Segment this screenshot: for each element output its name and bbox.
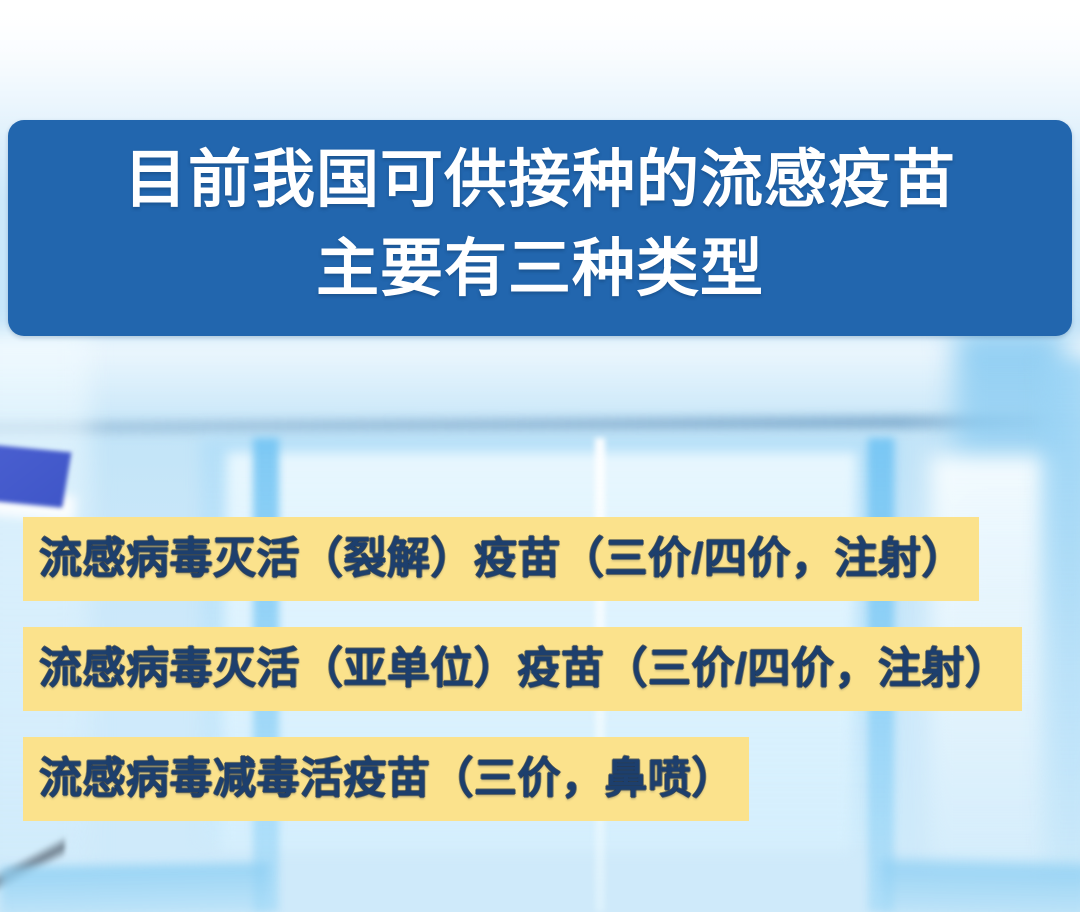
poster-canvas: 目前我国可供接种的流感疫苗 主要有三种类型 流感病毒灭活（裂解）疫苗（三价/四价… [0, 0, 1080, 912]
headline-line-2: 主要有三种类型 [316, 225, 764, 314]
vaccine-type-label-2: 流感病毒灭活（亚单位）疫苗（三价/四价，注射） [23, 627, 1022, 711]
background-ceiling [0, 336, 1080, 428]
vaccine-type-list: 流感病毒灭活（裂解）疫苗（三价/四价，注射） 流感病毒灭活（亚单位）疫苗（三价/… [0, 517, 1080, 847]
background-shelf-left [0, 863, 270, 912]
vaccine-type-label-1: 流感病毒灭活（裂解）疫苗（三价/四价，注射） [23, 517, 979, 601]
background-blue-sign [0, 444, 71, 508]
list-item: 流感病毒灭活（裂解）疫苗（三价/四价，注射） [0, 517, 1080, 601]
list-item: 流感病毒减毒活疫苗（三价，鼻喷） [0, 737, 1080, 821]
list-item: 流感病毒灭活（亚单位）疫苗（三价/四价，注射） [0, 627, 1080, 711]
background-shelf-right [879, 859, 1080, 912]
headline-line-1: 目前我国可供接种的流感疫苗 [124, 136, 956, 225]
vaccine-type-label-3: 流感病毒减毒活疫苗（三价，鼻喷） [23, 737, 749, 821]
headline-banner: 目前我国可供接种的流感疫苗 主要有三种类型 [8, 120, 1072, 336]
